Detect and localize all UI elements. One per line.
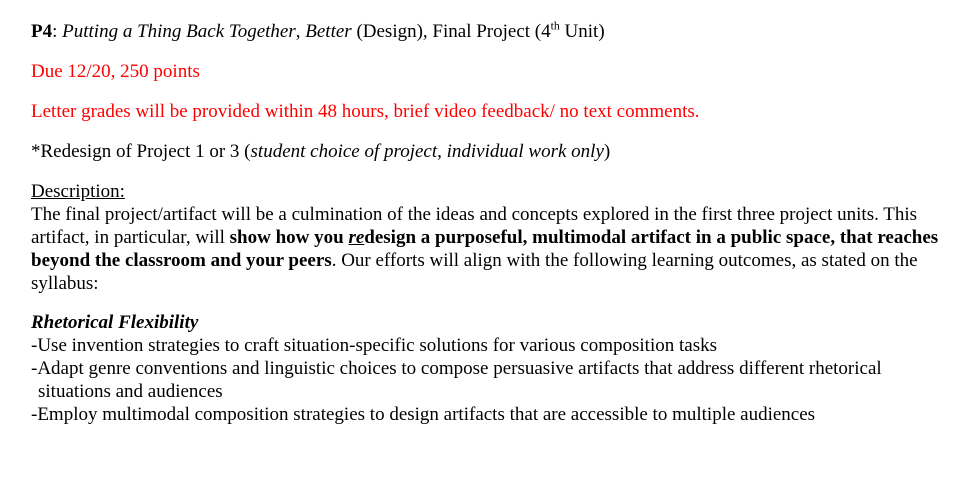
redesign-note: *Redesign of Project 1 or 3 (student cho… — [31, 140, 955, 163]
redesign-note-suffix: ) — [604, 141, 610, 162]
title-unit-suffix: Unit) — [560, 21, 605, 42]
redesign-note-italic: student choice of project, individual wo… — [251, 141, 604, 162]
list-item: -Adapt genre conventions and linguistic … — [31, 357, 955, 403]
document-body: P4: Putting a Thing Back Together, Bette… — [31, 20, 955, 426]
spacer — [31, 123, 955, 140]
ordinal-superscript: th — [551, 20, 560, 33]
assignment-code: P4 — [31, 21, 52, 42]
spacer — [31, 83, 955, 100]
assignment-title: P4: Putting a Thing Back Together, Bette… — [31, 20, 955, 43]
list-item: -Employ multimodal composition strategie… — [31, 403, 955, 426]
project-title: Putting a Thing Back Together — [62, 21, 296, 42]
grading-policy-line: Letter grades will be provided within 48… — [31, 100, 955, 123]
description-heading: Description: — [31, 180, 955, 203]
spacer — [31, 43, 955, 60]
title-comma: , — [296, 21, 306, 42]
redesign-note-prefix: *Redesign of Project 1 or 3 ( — [31, 141, 251, 162]
title-design-suffix: (Design), Final Project (4 — [352, 21, 551, 42]
description-bold-part1: show how you — [230, 227, 349, 248]
description-re-emphasis: re — [348, 227, 364, 248]
outcomes-heading: Rhetorical Flexibility — [31, 311, 955, 334]
description-paragraph: The final project/artifact will be a cul… — [31, 203, 955, 295]
title-colon: : — [52, 21, 62, 42]
document-page: P4: Putting a Thing Back Together, Bette… — [0, 0, 967, 500]
description-heading-text: Description: — [31, 181, 125, 202]
project-title-better: Better — [305, 21, 351, 42]
due-date-line: Due 12/20, 250 points — [31, 60, 955, 83]
list-item: -Use invention strategies to craft situa… — [31, 334, 955, 357]
spacer — [31, 295, 955, 311]
spacer — [31, 163, 955, 180]
